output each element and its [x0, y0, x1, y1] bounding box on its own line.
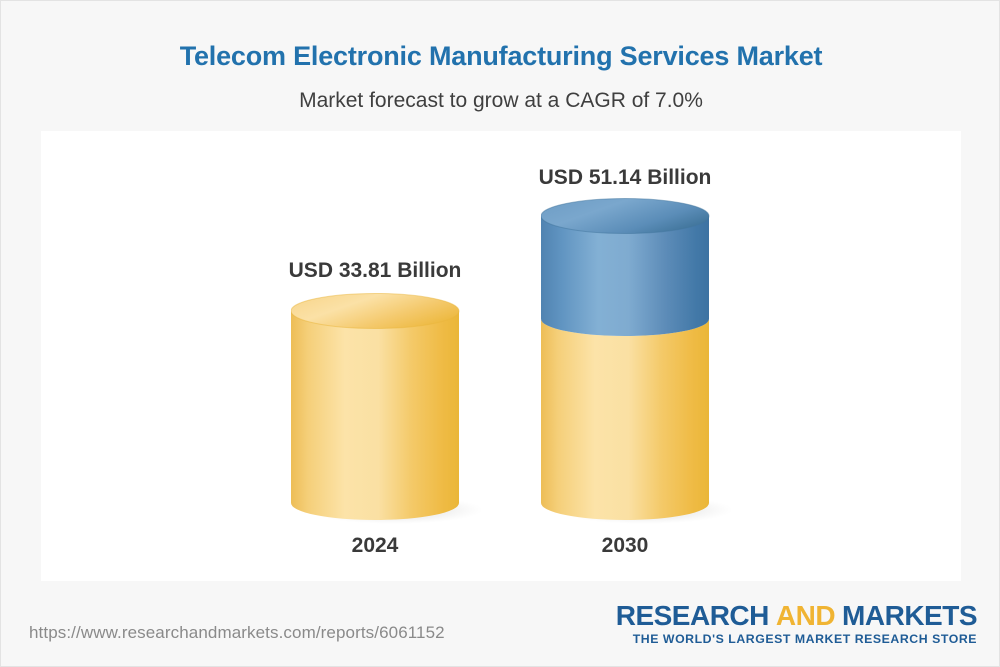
plot-canvas — [41, 131, 961, 581]
chart-title: Telecom Electronic Manufacturing Service… — [1, 41, 1000, 72]
logo-word-markets: MARKETS — [842, 600, 977, 631]
cylinder-2030-svg — [541, 198, 731, 531]
logo-word-research: RESEARCH — [616, 600, 769, 631]
category-label-2030: 2030 — [505, 534, 745, 558]
logo-tagline: THE WORLD'S LARGEST MARKET RESEARCH STOR… — [616, 632, 977, 646]
bar-cylinder-2024[interactable] — [291, 293, 459, 521]
chart-page: Telecom Electronic Manufacturing Service… — [0, 0, 1000, 667]
data-label-2024: USD 33.81 Billion — [195, 259, 555, 283]
logo-wordmark: RESEARCHANDMARKETS — [616, 601, 977, 630]
bar-cylinder-2030[interactable] — [541, 198, 709, 521]
data-label-2030: USD 51.14 Billion — [445, 166, 805, 190]
source-url[interactable]: https://www.researchandmarkets.com/repor… — [29, 623, 445, 643]
logo[interactable]: RESEARCHANDMARKETS THE WORLD'S LARGEST M… — [616, 601, 977, 646]
category-label-2024: 2024 — [255, 534, 495, 558]
cylinder-2024-svg — [291, 293, 481, 531]
logo-word-and: AND — [776, 600, 835, 631]
chart-subtitle: Market forecast to grow at a CAGR of 7.0… — [1, 89, 1000, 113]
